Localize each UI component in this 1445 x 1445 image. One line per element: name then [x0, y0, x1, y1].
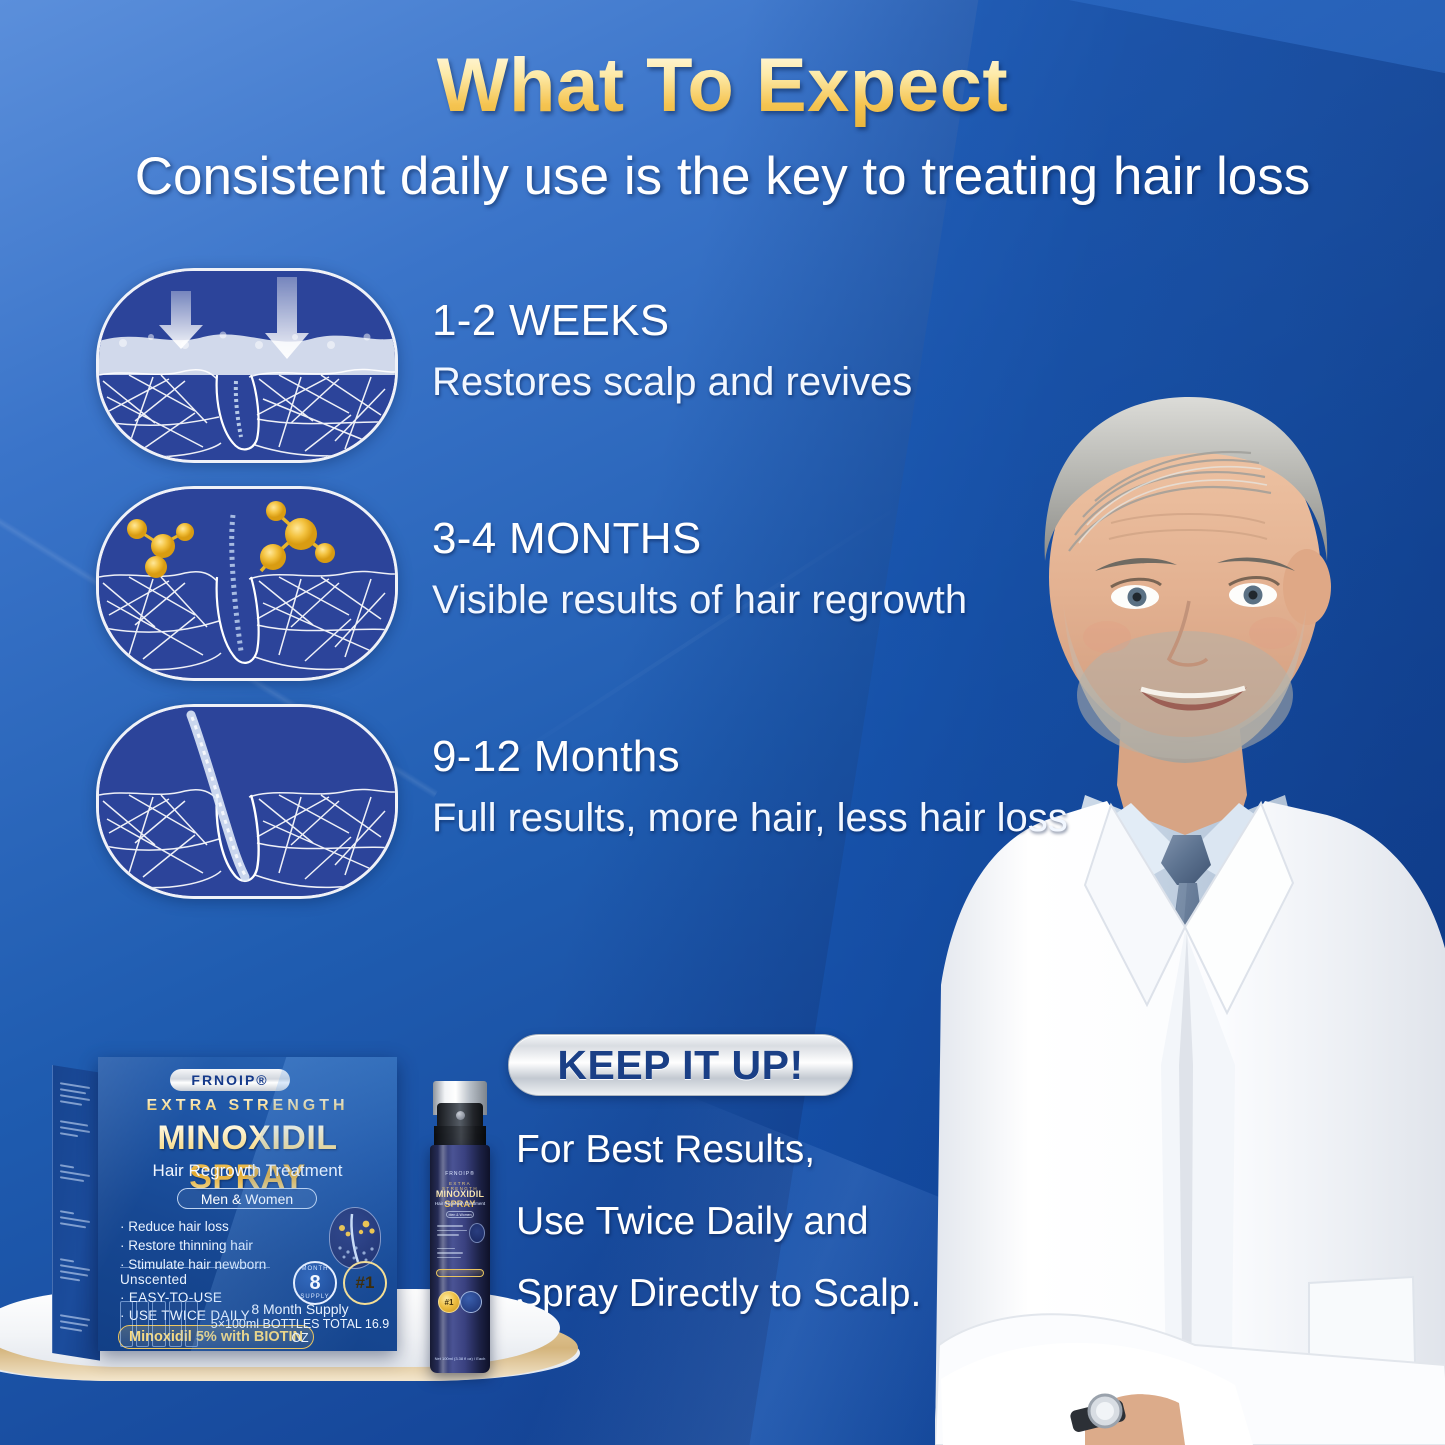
- benefit-item: · Stimulate hair newborn: [120, 1257, 266, 1272]
- product-strength: EXTRA STRENGTH: [98, 1097, 397, 1115]
- benefit-item: · Restore thinning hair: [120, 1238, 266, 1253]
- bottle-tagline: Hair Regrowth Treatment: [430, 1201, 490, 1206]
- bottle-seal-badge: [460, 1291, 482, 1313]
- product-name: MINOXIDIL SPRAY: [98, 1119, 397, 1197]
- bottles-illustration: [120, 1301, 198, 1347]
- scalp-nutrient-molecules-icon: [96, 486, 398, 681]
- timeline-text: 1-2 WEEKS Restores scalp and revives: [432, 296, 912, 405]
- follicle-molecule-icon: [329, 1207, 381, 1269]
- timeline-description: Restores scalp and revives: [432, 360, 912, 405]
- promo-graphic: What To Expect Consistent daily use is t…: [0, 0, 1445, 1445]
- bottle-body: FRNOIP® EXTRA STRENGTH MINOXIDIL SPRAY H…: [430, 1145, 490, 1373]
- feature-item: Unscented: [120, 1272, 250, 1287]
- divider: [120, 1267, 270, 1268]
- usage-line-1: For Best Results,: [516, 1128, 921, 1172]
- expectation-timeline: 1-2 WEEKS Restores scalp and revives: [96, 268, 1096, 922]
- bottle-volume: Net 100ml (3.38 fl oz) / Each: [430, 1356, 490, 1361]
- timeline-row: 3-4 MONTHS Visible results of hair regro…: [96, 486, 1096, 704]
- supply-badge-number: 8: [309, 1272, 320, 1295]
- scalp-absorption-icon: [96, 268, 398, 463]
- product-box-front: FRNOIP® EXTRA STRENGTH MINOXIDIL SPRAY H…: [98, 1057, 397, 1351]
- supply-badge: MONTH 8 SUPPLY: [293, 1261, 337, 1305]
- spray-bottle: FRNOIP® EXTRA STRENGTH MINOXIDIL SPRAY H…: [419, 1081, 501, 1377]
- bottle-formula-pill: [436, 1269, 484, 1277]
- supply-badge-top: MONTH: [295, 1266, 335, 1272]
- page-title: What To Expect: [0, 42, 1445, 129]
- supply-months: 8 Month Supply: [210, 1301, 390, 1317]
- product-box-side-panel: [52, 1065, 100, 1361]
- bottle-rank-badge: #1: [438, 1291, 460, 1313]
- supply-badge-bottom: SUPPLY: [295, 1294, 335, 1300]
- brand-logo: FRNOIP®: [170, 1069, 290, 1091]
- supply-volume: 5×100ml BOTTLES TOTAL 16.9 OZ: [210, 1317, 390, 1345]
- bottle-brand: FRNOIP®: [430, 1171, 490, 1177]
- product-audience: Men & Women: [177, 1188, 317, 1209]
- bottle-audience: Men & Women: [446, 1211, 474, 1218]
- timeline-title: 1-2 WEEKS: [432, 296, 912, 346]
- scalp-full-hair-icon: [96, 704, 398, 899]
- timeline-row: 9-12 Months Full results, more hair, les…: [96, 704, 1096, 922]
- bottle-follicle-icon: [469, 1223, 485, 1243]
- timeline-title: 9-12 Months: [432, 732, 1068, 782]
- usage-line-2: Use Twice Daily and: [516, 1200, 921, 1244]
- keep-it-up-label: KEEP IT UP!: [557, 1042, 803, 1089]
- benefit-item: · Reduce hair loss: [120, 1219, 266, 1234]
- supply-info: 8 Month Supply 5×100ml BOTTLES TOTAL 16.…: [210, 1301, 390, 1345]
- bottle-product-name: MINOXIDIL SPRAY: [430, 1189, 490, 1209]
- product-box: FRNOIP® EXTRA STRENGTH MINOXIDIL SPRAY H…: [52, 1057, 397, 1360]
- timeline-text: 9-12 Months Full results, more hair, les…: [432, 732, 1068, 841]
- timeline-text: 3-4 MONTHS Visible results of hair regro…: [432, 514, 967, 623]
- product-tagline: Hair Regrowth Treatment: [98, 1161, 397, 1181]
- keep-it-up-badge: KEEP IT UP!: [508, 1034, 853, 1096]
- bottle-bullets: [437, 1225, 467, 1261]
- timeline-description: Full results, more hair, less hair loss: [432, 796, 1068, 841]
- timeline-row: 1-2 WEEKS Restores scalp and revives: [96, 268, 1096, 486]
- rank-badge: #1: [343, 1261, 387, 1305]
- timeline-title: 3-4 MONTHS: [432, 514, 967, 564]
- timeline-description: Visible results of hair regrowth: [432, 578, 967, 623]
- page-subtitle: Consistent daily use is the key to treat…: [0, 146, 1445, 207]
